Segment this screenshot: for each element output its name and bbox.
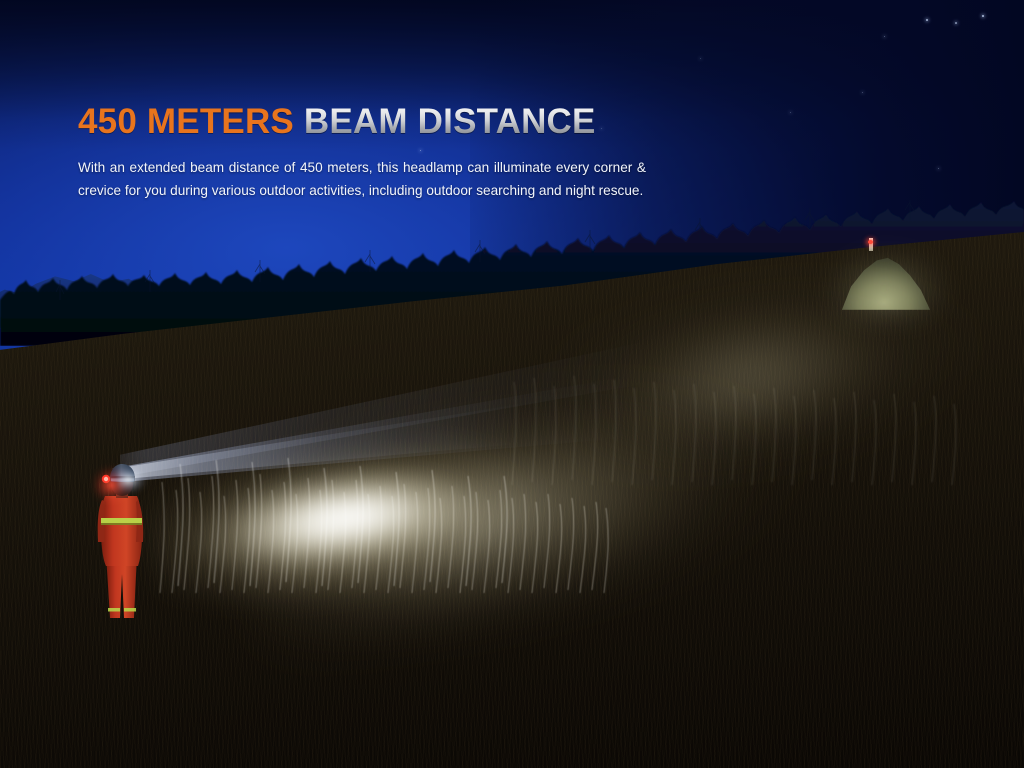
star-icon [926,19,928,21]
distant-figure-red-light-icon [868,240,873,244]
text-overlay: 450 METERS BEAM DISTANCE With an extende… [78,103,678,203]
title-label: BEAM DISTANCE [294,102,596,141]
description-paragraph: With an extended beam distance of 450 me… [78,157,646,203]
title-distance-value: 450 METERS [78,102,294,141]
star-icon [955,22,957,24]
headlamp-front-glow [118,462,164,496]
scene-canvas: 450 METERS BEAM DISTANCE With an extende… [0,0,1024,768]
lit-grass-blades-far [500,320,960,485]
page-title: 450 METERS BEAM DISTANCE [78,103,678,140]
